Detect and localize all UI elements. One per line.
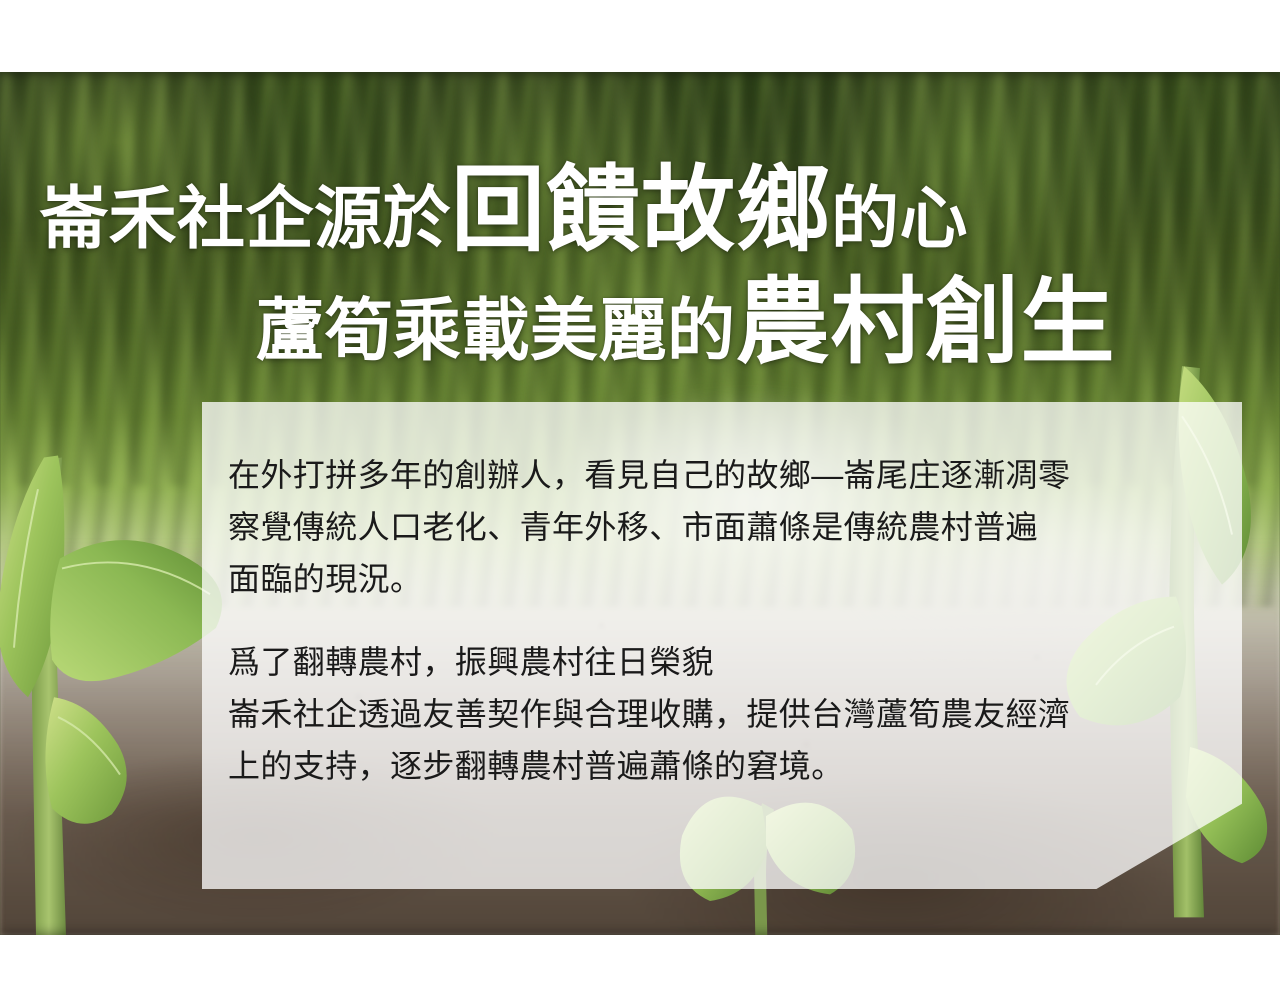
bottom-white-band — [0, 935, 1280, 1007]
body-paragraph-2: 爲了翻轉農村，振興農村往日榮貌 崙禾社企透過友善契作與合理收購，提供台灣蘆筍農友… — [228, 637, 1222, 792]
headline-1-tail: 的心 — [831, 181, 968, 257]
body-paragraph-1-line-2: 察覺傳統人口老化、青年外移、市面蕭條是傳統農村普遍 — [228, 502, 1222, 554]
headline-2-emphasis: 農村創生 — [736, 269, 1116, 374]
headline-1-lead: 崙禾社企源於 — [40, 181, 451, 257]
body-paragraph-2-line-1: 爲了翻轉農村，振興農村往日榮貌 — [228, 637, 1222, 689]
headline-line-1: 崙禾社企源於回饋故鄉的心 — [40, 163, 968, 257]
body-paragraph-1: 在外打拼多年的創辦人，看見自己的故鄉—崙尾庄逐漸凋零 察覺傳統人口老化、青年外移… — [228, 450, 1222, 605]
headline-line-2: 蘆筍乘載美麗的農村創生 — [256, 275, 1116, 369]
body-paragraph-2-line-3: 上的支持，逐步翻轉農村普遍蕭條的窘境。 — [228, 741, 1222, 793]
body-copy-container: 在外打拼多年的創辦人，看見自己的故鄉—崙尾庄逐漸凋零 察覺傳統人口老化、青年外移… — [228, 450, 1222, 793]
body-paragraph-1-line-3: 面臨的現況。 — [228, 554, 1222, 606]
body-paragraph-1-line-1: 在外打拼多年的創辦人，看見自己的故鄉—崙尾庄逐漸凋零 — [228, 450, 1222, 502]
headline-1-emphasis: 回饋故鄉 — [451, 157, 831, 262]
body-copy-panel: 在外打拼多年的創辦人，看見自己的故鄉—崙尾庄逐漸凋零 察覺傳統人口老化、青年外移… — [202, 402, 1242, 889]
body-paragraph-2-line-2: 崙禾社企透過友善契作與合理收購，提供台灣蘆筍農友經濟 — [228, 689, 1222, 741]
promo-banner: 崙禾社企源於回饋故鄉的心 蘆筍乘載美麗的農村創生 在外打拼多年的創辦人，看見自己… — [0, 0, 1280, 1007]
top-white-band — [0, 0, 1280, 72]
headline-2-lead: 蘆筍乘載美麗的 — [256, 293, 736, 369]
